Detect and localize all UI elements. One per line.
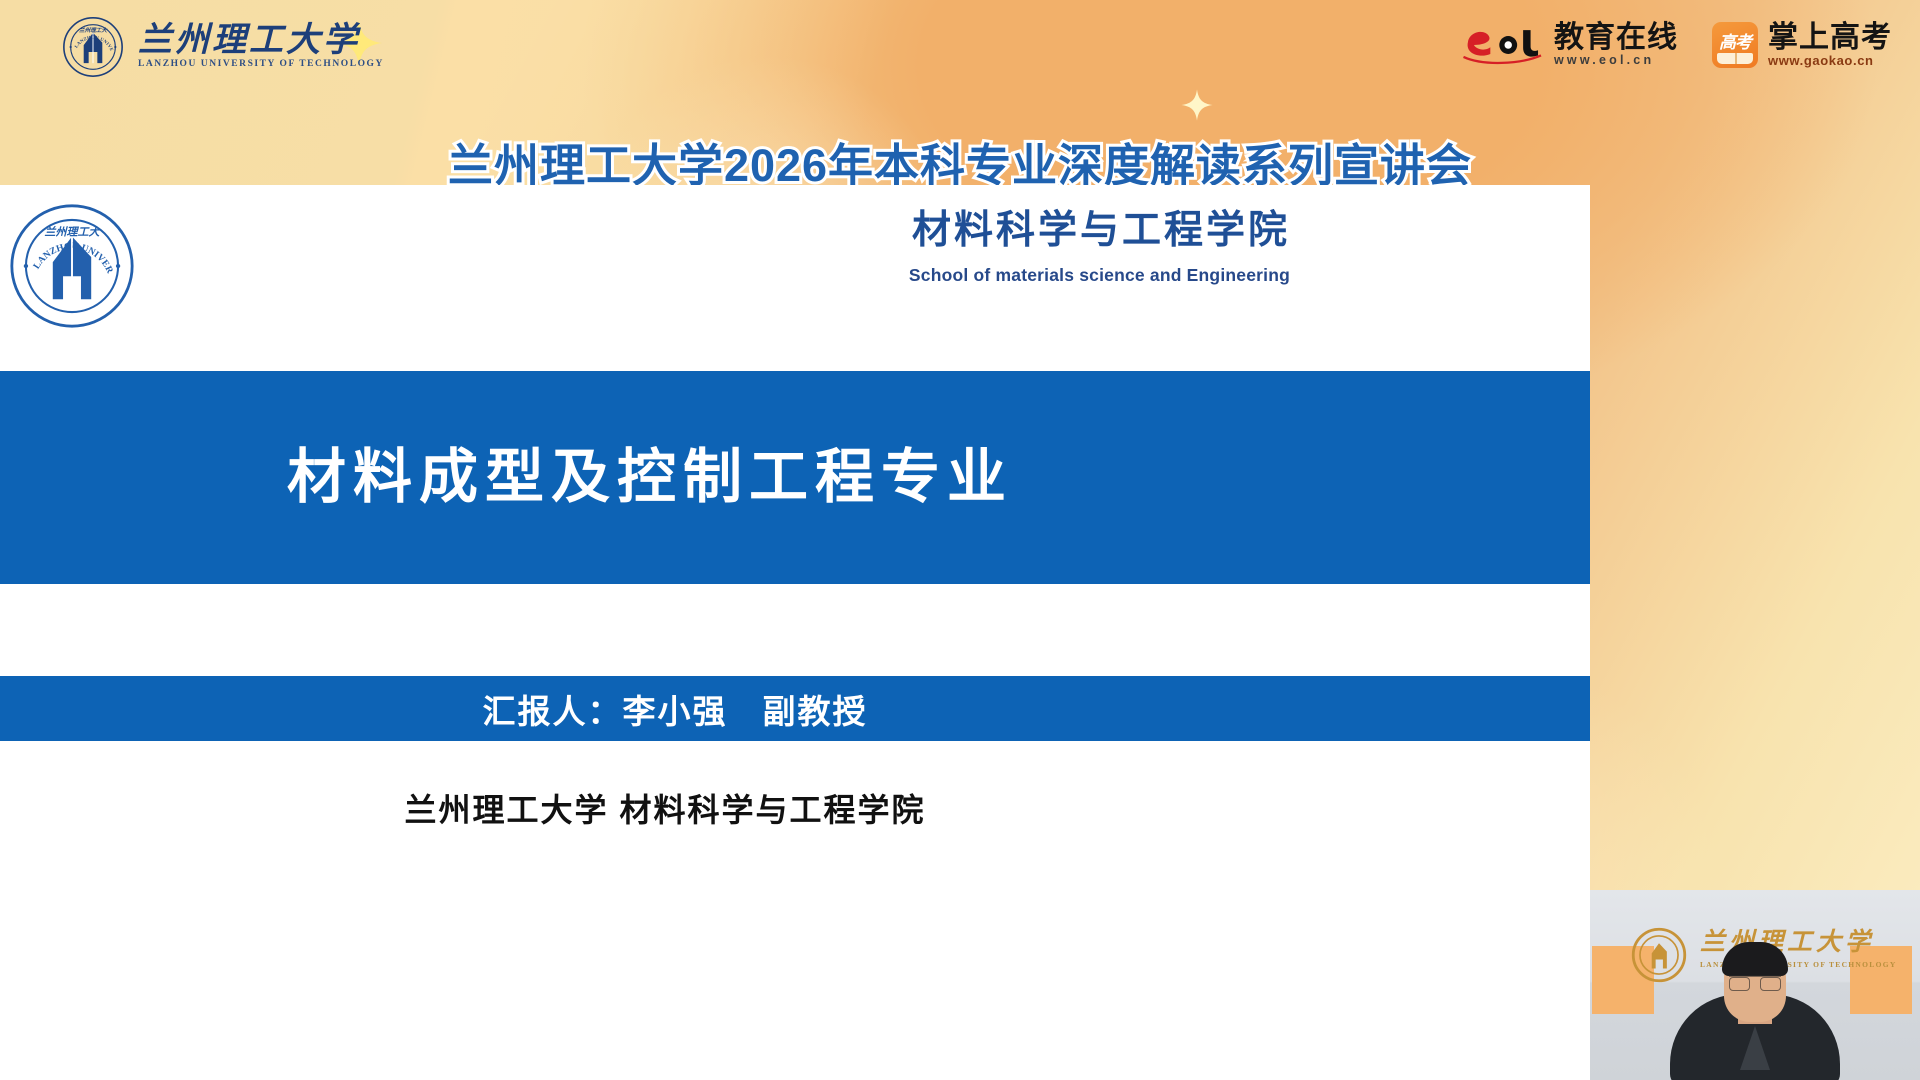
svg-text:兰州理工大: 兰州理工大: [79, 27, 108, 34]
brand-eol-url: www.eol.cn: [1554, 54, 1678, 67]
gaokao-book-shape: [1717, 53, 1753, 64]
partner-brands: 教育在线 www.eol.cn 高考 掌上高考 www.gaokao.cn: [1462, 22, 1892, 68]
eol-logo-icon: [1462, 25, 1544, 65]
presenter-line: 汇报人：李小强 副教授: [0, 685, 1590, 733]
major-title-band: 材料成型及控制工程专业: [0, 371, 1590, 584]
university-name-en: LANZHOU UNIVERSITY OF TECHNOLOGY: [138, 60, 384, 70]
svg-text:兰州理工大: 兰州理工大: [45, 225, 102, 238]
event-title: 兰州理工大学2026年本科专业深度解读系列宣讲会: [0, 140, 1920, 192]
presentation-stage: LANZHOU UNIVERSITY OF TECHNOLOGY 兰州理工大 兰…: [0, 0, 1920, 1080]
major-title: 材料成型及控制工程专业: [0, 448, 1013, 507]
brand-eol-name: 教育在线: [1554, 23, 1678, 53]
webcam-pip[interactable]: 兰州理工大学 LANZHOU UNIVERSITY OF TECHNOLOGY: [1590, 890, 1920, 1080]
brand-gaokao-name: 掌上高考: [1768, 23, 1892, 53]
brand-gaokao-url: www.gaokao.cn: [1768, 54, 1892, 67]
brand-eol: 教育在线 www.eol.cn: [1462, 23, 1678, 67]
department-name-cn: 材料科学与工程学院: [909, 210, 1290, 253]
presenter-figure: [1590, 972, 1920, 1080]
affiliation-line: 兰州理工大学 材料科学与工程学院: [0, 785, 1590, 831]
university-name-cn: 兰州理工大学: [138, 24, 384, 58]
slide-canvas: LANZHOU UNIVERSITY OF TECHNOLOGY 兰州理工大 材…: [0, 185, 1590, 1080]
slide-university-seal-icon: LANZHOU UNIVERSITY OF TECHNOLOGY 兰州理工大: [8, 202, 136, 330]
department-heading: 材料科学与工程学院 School of materials science an…: [909, 210, 1290, 286]
university-logo: LANZHOU UNIVERSITY OF TECHNOLOGY 兰州理工大 兰…: [62, 16, 384, 78]
brand-gaokao: 高考 掌上高考 www.gaokao.cn: [1712, 22, 1892, 68]
presenter-band: 汇报人：李小强 副教授: [0, 676, 1590, 741]
gaokao-logo-icon: 高考: [1712, 22, 1758, 68]
university-seal-icon: LANZHOU UNIVERSITY OF TECHNOLOGY 兰州理工大: [62, 16, 124, 78]
presenter-glasses: [1729, 975, 1781, 988]
department-name-en: School of materials science and Engineer…: [909, 265, 1290, 286]
